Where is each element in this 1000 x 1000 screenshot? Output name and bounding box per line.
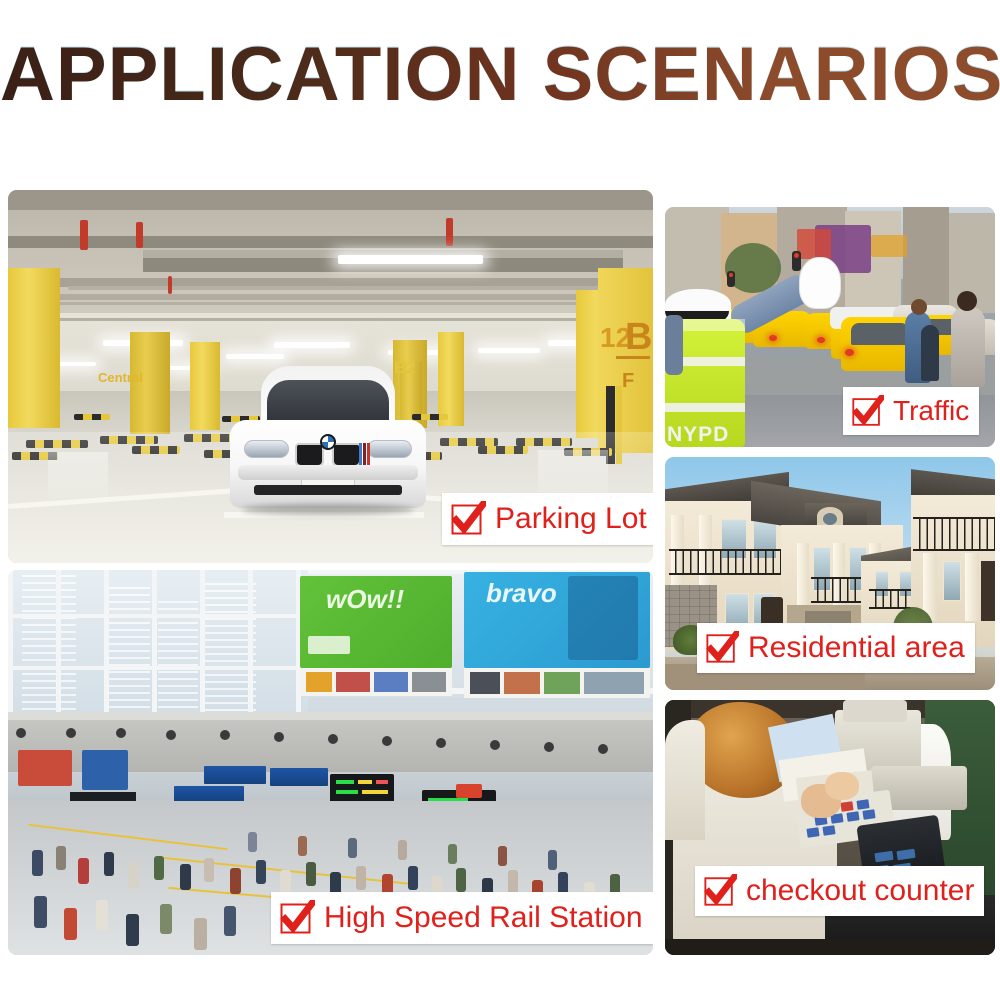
check-mark-icon bbox=[279, 900, 315, 936]
scenario-grid: 12 B2 F B2 Central bbox=[0, 0, 1000, 1000]
label-chip-high-speed-rail-station[interactable]: High Speed Rail Station bbox=[271, 892, 653, 944]
label-text-high-speed-rail-station: High Speed Rail Station bbox=[324, 901, 643, 935]
panel-residential-area[interactable]: Residential area bbox=[665, 457, 995, 690]
check-mark-icon bbox=[450, 501, 486, 537]
label-chip-checkout-counter[interactable]: checkout counter bbox=[695, 866, 984, 916]
check-mark-icon bbox=[703, 874, 737, 908]
check-mark-icon bbox=[851, 395, 884, 428]
panel-high-speed-rail-station[interactable]: wOw!! bravo bbox=[8, 570, 653, 955]
label-text-checkout-counter: checkout counter bbox=[746, 874, 974, 908]
panel-checkout-counter[interactable]: checkout counter bbox=[665, 700, 995, 955]
label-chip-traffic[interactable]: Traffic bbox=[843, 387, 979, 435]
panel-parking-lot[interactable]: 12 B2 F B2 Central bbox=[8, 190, 653, 563]
label-chip-parking-lot[interactable]: Parking Lot bbox=[442, 493, 653, 545]
label-text-residential-area: Residential area bbox=[748, 631, 965, 665]
label-text-parking-lot: Parking Lot bbox=[495, 502, 647, 536]
label-chip-residential-area[interactable]: Residential area bbox=[697, 623, 975, 673]
checkout-photo bbox=[665, 700, 995, 955]
panel-traffic[interactable]: NYPD Traffic bbox=[665, 207, 995, 447]
label-text-traffic: Traffic bbox=[893, 395, 969, 427]
check-mark-icon bbox=[705, 631, 739, 665]
